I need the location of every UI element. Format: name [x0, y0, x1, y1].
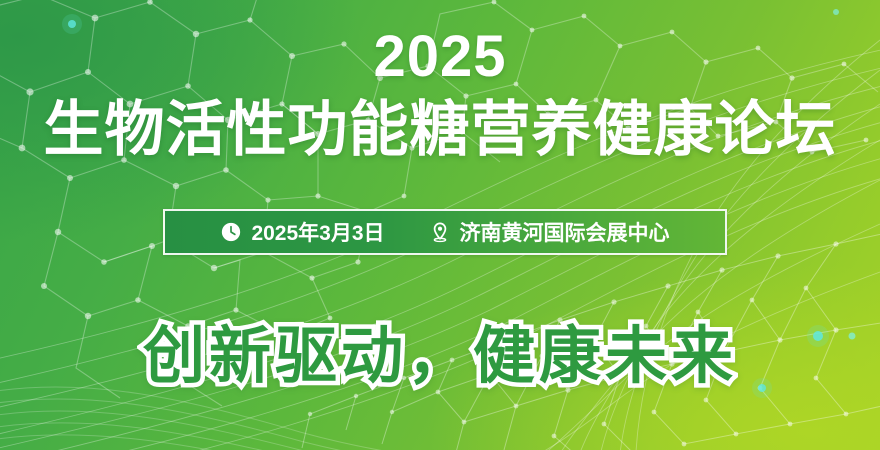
event-title: 生物活性功能糖营养健康论坛 [0, 98, 880, 163]
map-pin-icon [429, 221, 451, 243]
event-year: 2025 [0, 28, 880, 86]
event-date-text: 2025年3月3日 [251, 217, 384, 247]
event-location-item: 济南黄河国际会展中心 [429, 217, 670, 247]
event-date-item: 2025年3月3日 [220, 217, 384, 247]
clock-icon [220, 221, 242, 243]
event-info-bar: 2025年3月3日 济南黄河国际会展中心 [163, 209, 727, 255]
event-slogan: 创新驱动，健康未来 [0, 305, 880, 395]
title-block: 2025 生物活性功能糖营养健康论坛 [0, 28, 880, 163]
event-banner: 2025 生物活性功能糖营养健康论坛 2025年3月3日 济南黄河国际会展中心 … [0, 0, 880, 450]
event-location-text: 济南黄河国际会展中心 [460, 217, 670, 247]
